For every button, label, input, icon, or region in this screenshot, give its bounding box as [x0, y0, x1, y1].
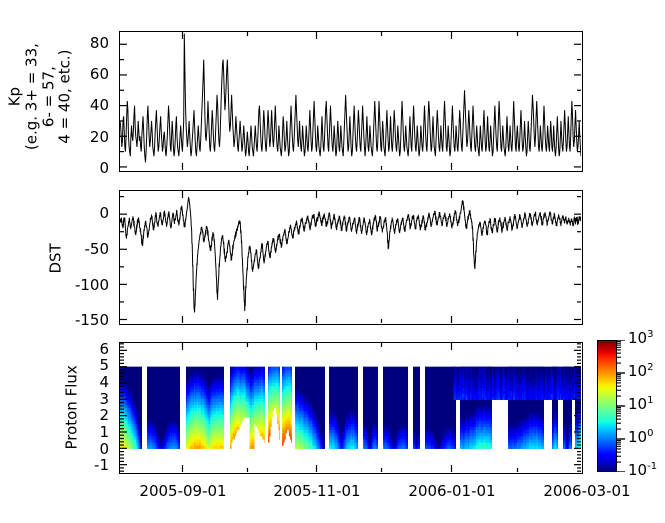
xtick-label: 2006-01-01	[392, 482, 512, 500]
ytick-label: 0	[53, 204, 109, 222]
ytick-label: 1	[53, 423, 109, 441]
ytick-label: 4	[53, 373, 109, 391]
ytick-label: 3	[53, 390, 109, 408]
colorbar-label: 100	[628, 428, 653, 446]
ytick-label: -150	[53, 311, 109, 329]
ytick-label: -1	[53, 456, 109, 474]
dst-trace-svg	[120, 191, 581, 323]
proton-flux-spectrogram	[120, 343, 581, 472]
ytick-label: -50	[53, 240, 109, 258]
ytick-label: 5	[53, 356, 109, 374]
kp-trace-svg	[120, 32, 581, 170]
ytick-label: -100	[53, 276, 109, 294]
dst-plot-panel	[119, 190, 583, 325]
colorbar-gradient	[597, 340, 617, 472]
ytick-label: 6	[53, 340, 109, 358]
colorbar-label: 101	[628, 395, 653, 413]
figure-root: Kp (e.g. 3+ = 33, 6- = 57, 4 = 40, etc.)…	[0, 0, 665, 523]
ytick-label: 20	[53, 128, 109, 146]
ytick-label: 2	[53, 406, 109, 424]
kp-axis-label-line-1: (e.g. 3+ = 33,	[23, 22, 40, 172]
xtick-label: 2006-03-01	[527, 482, 647, 500]
ytick-label: 0	[53, 159, 109, 177]
colorbar-ticks	[617, 340, 627, 472]
kp-axis-label-line-0: Kp	[6, 22, 23, 172]
ytick-label: 40	[53, 96, 109, 114]
colorbar: 10310210110010-1	[597, 340, 659, 472]
xtick-label: 2005-11-01	[257, 482, 377, 500]
xtick-label: 2005-09-01	[123, 482, 243, 500]
ytick-label: 60	[53, 65, 109, 83]
ytick-label: 0	[53, 440, 109, 458]
colorbar-label: 102	[628, 362, 653, 380]
kp-plot-panel	[119, 31, 583, 172]
proton-flux-panel	[119, 342, 583, 474]
colorbar-label: 10-1	[628, 461, 657, 479]
colorbar-label: 103	[628, 329, 653, 347]
ytick-label: 80	[53, 34, 109, 52]
